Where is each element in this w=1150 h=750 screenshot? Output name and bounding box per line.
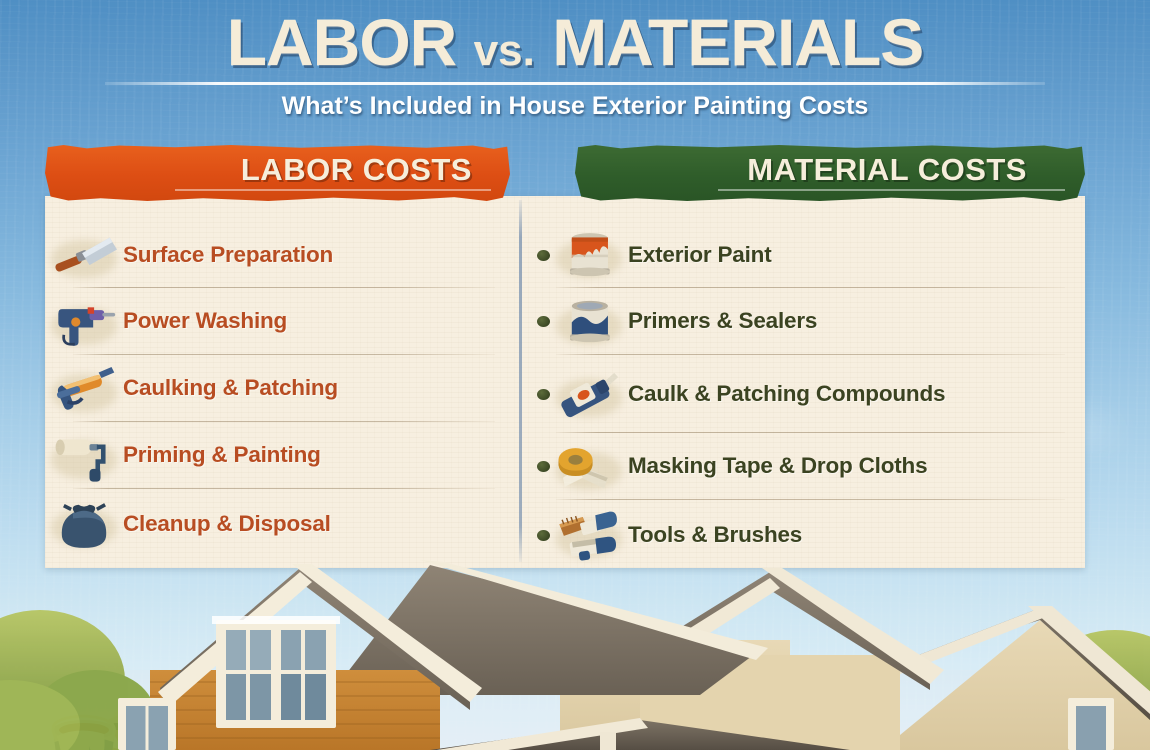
- material-costs-list: Exterior Paint Primers & Sealers: [528, 200, 1085, 570]
- header: LABOR vs. MATERIALS What’s Included in H…: [0, 0, 1150, 140]
- labor-banner-underline: [175, 189, 491, 191]
- bullet-icon: [537, 461, 550, 472]
- list-item-label: Caulk & Patching Compounds: [628, 382, 945, 407]
- page-title: LABOR vs. MATERIALS: [0, 4, 1150, 80]
- bullet-icon: [537, 250, 550, 261]
- title-divider: [105, 82, 1045, 85]
- list-item[interactable]: Exterior Paint: [528, 200, 1085, 288]
- title-materials: MATERIALS: [552, 5, 923, 79]
- list-item[interactable]: Priming & Painting: [45, 422, 515, 489]
- list-item[interactable]: Caulking & Patching: [45, 355, 515, 422]
- pressure-washer-icon: [45, 291, 123, 353]
- putty-knife-icon: [45, 224, 123, 286]
- list-item-label: Power Washing: [123, 309, 287, 334]
- bullet-icon: [537, 316, 550, 327]
- title-vs: vs.: [474, 26, 535, 75]
- title-labor: LABOR: [227, 5, 457, 79]
- labor-costs-banner: LABOR COSTS: [45, 145, 510, 201]
- material-banner-label: MATERIAL COSTS: [747, 152, 1027, 188]
- paint-can-blue-icon: [550, 291, 628, 353]
- list-item[interactable]: Surface Preparation: [45, 200, 515, 288]
- material-costs-banner: MATERIAL COSTS: [575, 145, 1085, 201]
- list-item-label: Primers & Sealers: [628, 309, 817, 334]
- list-item-label: Priming & Painting: [123, 443, 321, 468]
- trash-bag-icon: [45, 493, 123, 555]
- list-item-label: Masking Tape & Drop Cloths: [628, 454, 927, 479]
- brushes-icon: [550, 504, 628, 566]
- list-item[interactable]: Caulk & Patching Compounds: [528, 355, 1085, 433]
- material-banner-underline: [718, 189, 1065, 191]
- labor-costs-list: Surface Preparation Power Washing: [45, 200, 515, 559]
- paint-can-orange-icon: [550, 224, 628, 286]
- paint-roller-icon: [45, 425, 123, 487]
- list-item-label: Exterior Paint: [628, 243, 772, 268]
- list-item[interactable]: Primers & Sealers: [528, 288, 1085, 355]
- bullet-icon: [537, 389, 550, 400]
- labor-banner-label: LABOR COSTS: [241, 152, 472, 188]
- page-subtitle: What’s Included in House Exterior Painti…: [0, 92, 1150, 121]
- masking-tape-icon: [550, 436, 628, 498]
- list-item-label: Caulking & Patching: [123, 376, 338, 401]
- list-item[interactable]: Masking Tape & Drop Cloths: [528, 433, 1085, 500]
- caulk-gun-icon: [45, 358, 123, 420]
- caulk-tube-icon: [550, 363, 628, 425]
- list-item[interactable]: Power Washing: [45, 288, 515, 355]
- list-item-label: Surface Preparation: [123, 243, 333, 268]
- column-divider: [519, 200, 522, 562]
